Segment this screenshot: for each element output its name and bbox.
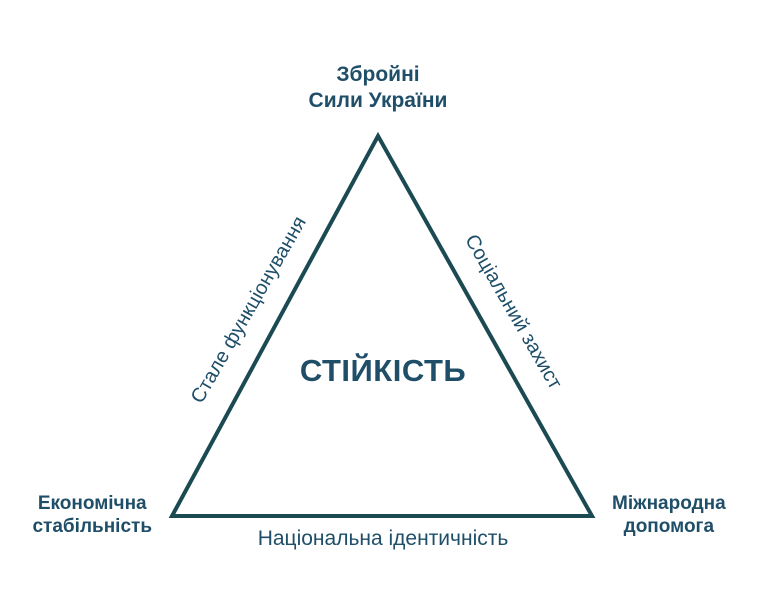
vertex-label-bottom-left: Економічна стабільність [32,492,152,538]
center-label-resilience: СТІЙКІСТЬ [300,352,466,390]
edge-label-base: Національна ідентичність [258,526,509,552]
vertex-label-bottom-right-line2: допомога [612,515,726,538]
resilience-triangle-diagram: Збройні Сили України Стале функціонуванн… [0,0,763,600]
vertex-label-bottom-left-line2: стабільність [32,515,152,538]
vertex-label-bottom-right-line1: Міжнародна [612,492,726,515]
vertex-label-apex-line2: Сили України [309,88,448,114]
vertex-label-bottom-right: Міжнародна допомога [612,492,726,538]
vertex-label-apex: Збройні Сили України [309,62,448,113]
vertex-label-bottom-left-line1: Економічна [32,492,152,515]
vertex-label-apex-line1: Збройні [309,62,448,88]
